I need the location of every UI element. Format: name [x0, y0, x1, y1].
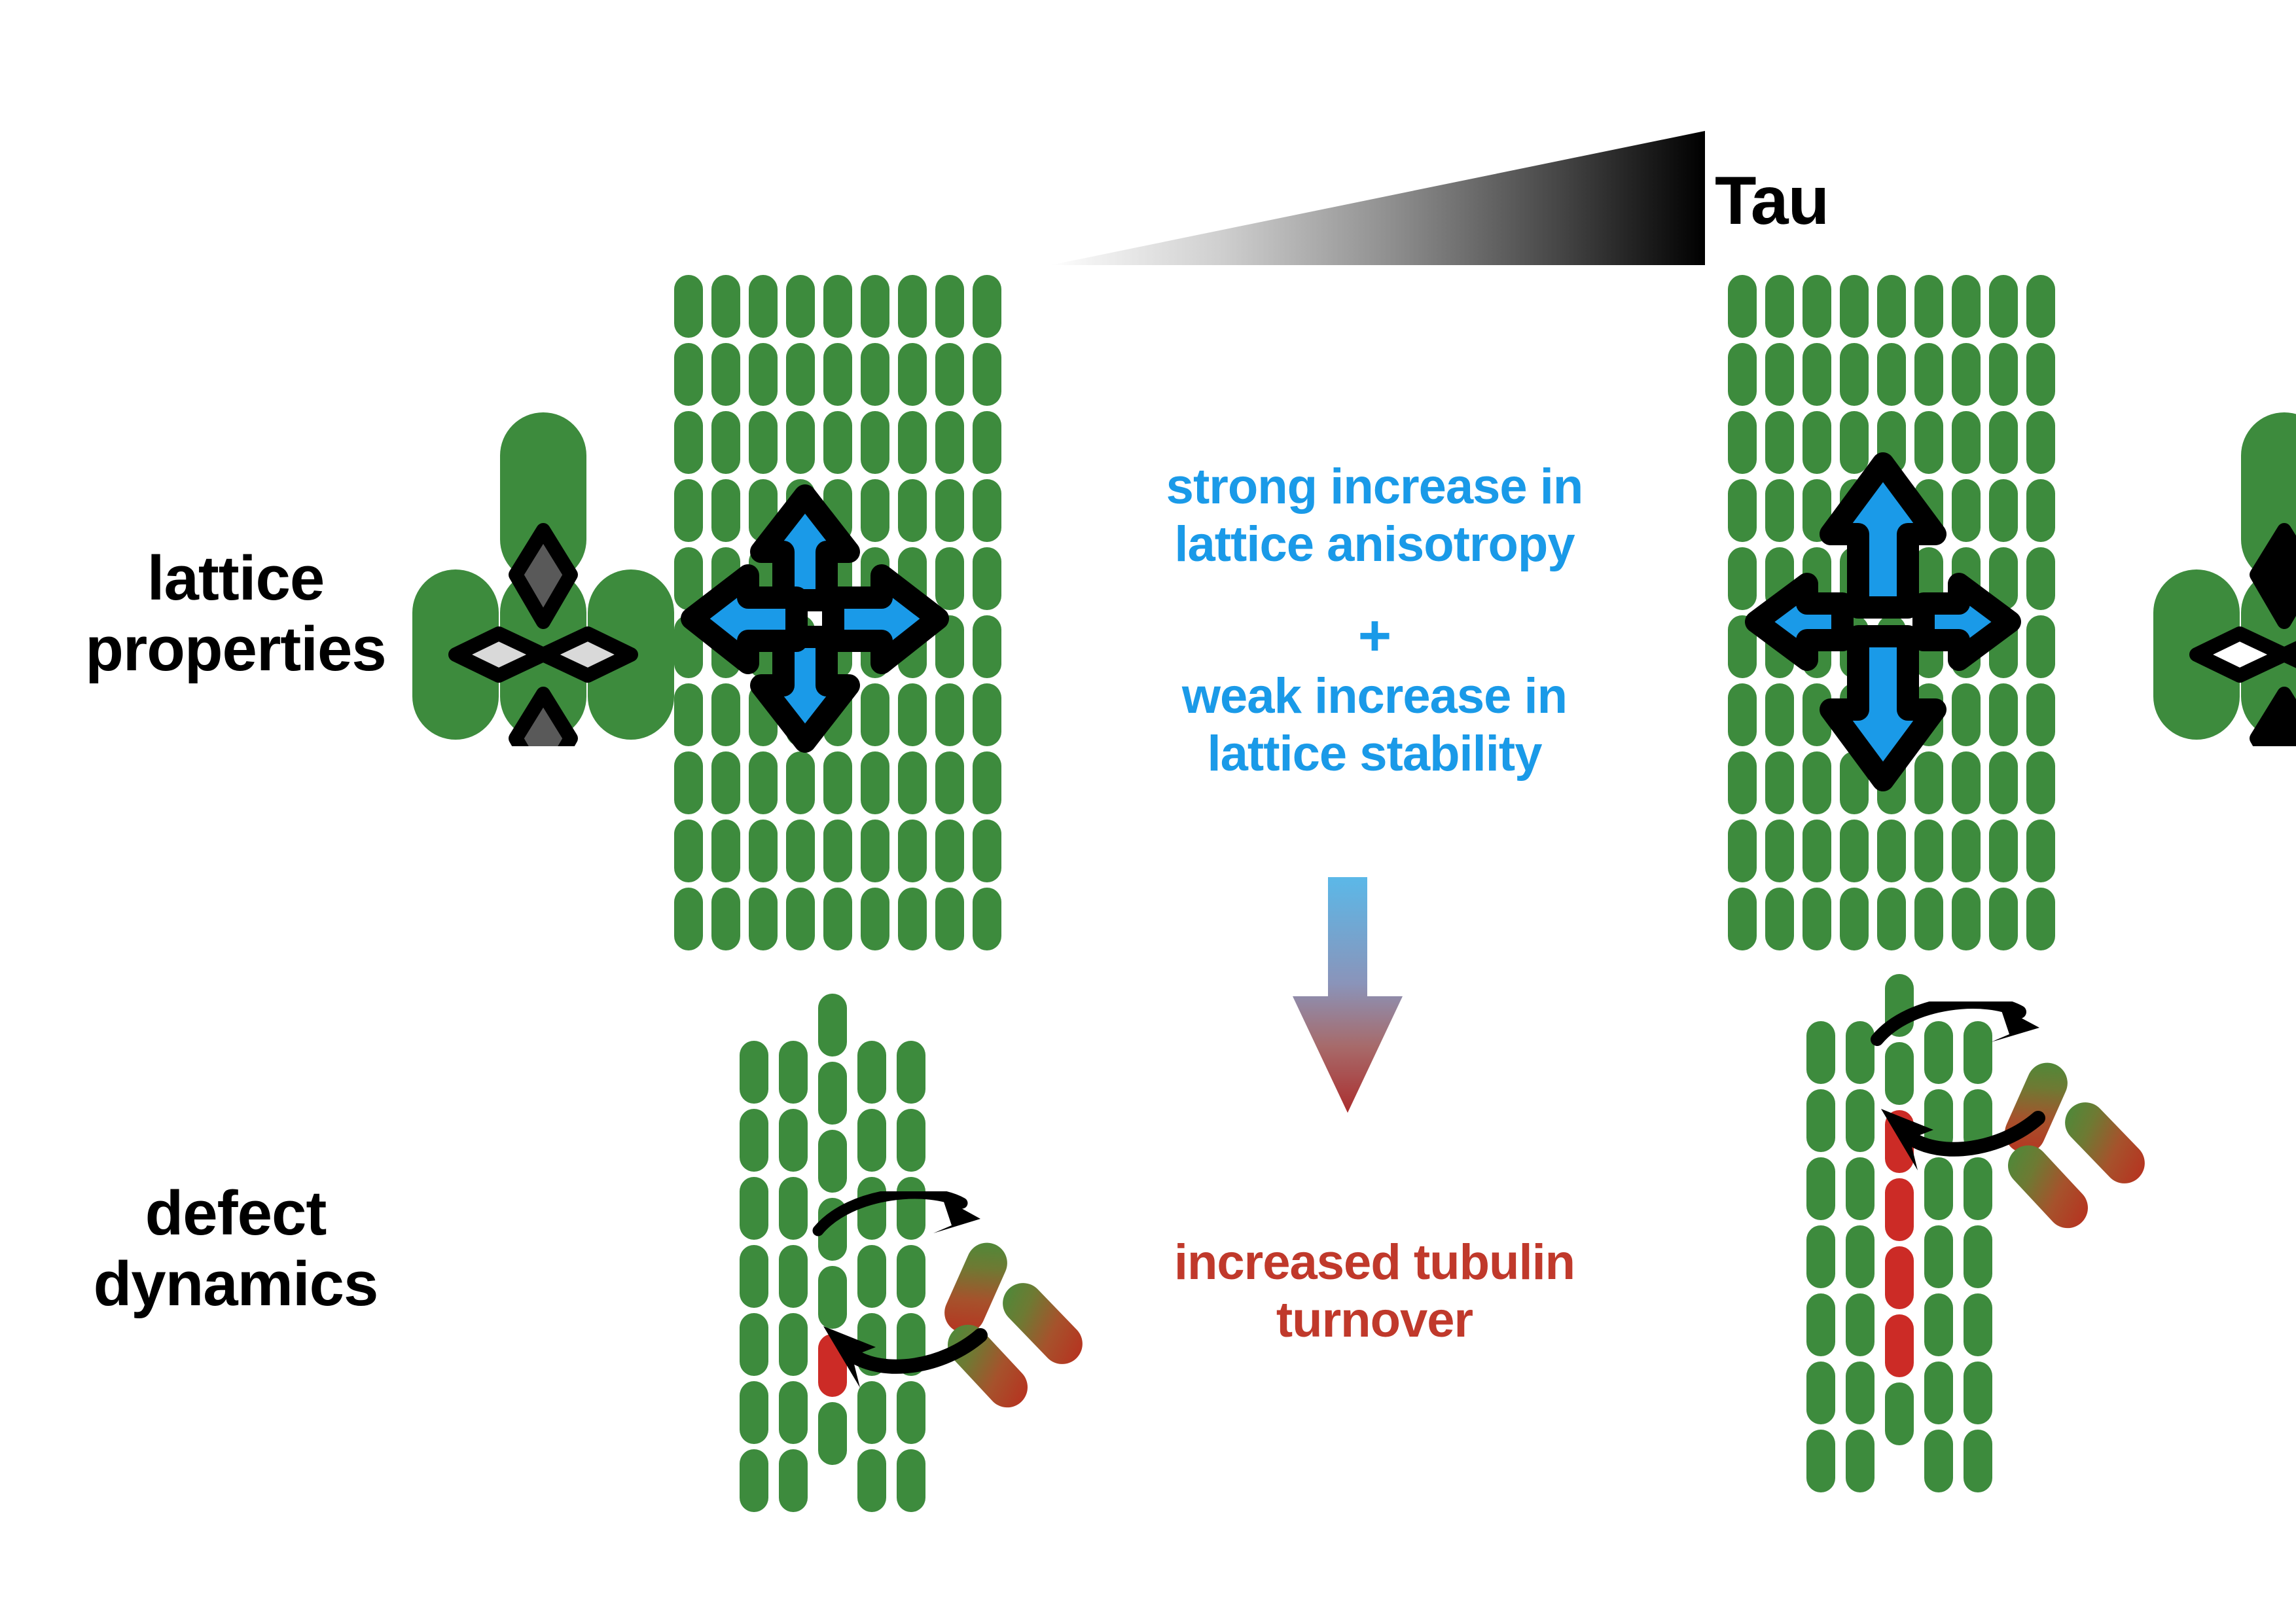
tubulin-subunit [973, 683, 1001, 746]
message-turnover-line2: turnover [1067, 1291, 1682, 1349]
tubulin-subunit [898, 275, 927, 338]
tubulin-subunit [711, 275, 740, 338]
message-anisotropy-line1: strong increase in [1067, 458, 1682, 516]
tubulin-cross-low-tau [406, 406, 681, 746]
tubulin-subunit [861, 751, 889, 814]
tubulin-subunit [1885, 1382, 1914, 1445]
tubulin-subunit [973, 751, 1001, 814]
tubulin-subunit [674, 888, 703, 950]
tubulin-subunit [1877, 820, 1906, 882]
tubulin-subunit [779, 1449, 808, 1512]
tubulin-subunit [1877, 343, 1906, 406]
message-increased-tubulin-turnover: increased tubulin turnover [1067, 1234, 1682, 1349]
tubulin-subunit [1964, 1362, 1992, 1424]
tubulin-subunit [1964, 1293, 1992, 1356]
outcome-down-arrow-icon [1293, 877, 1403, 1113]
tubulin-subunit [898, 751, 927, 814]
tubulin-subunit [1806, 1225, 1835, 1288]
tubulin-subunit [898, 888, 927, 950]
tubulin-subunit [1840, 343, 1869, 406]
tubulin-subunit [711, 411, 740, 474]
tubulin-subunit [1989, 275, 2018, 338]
message-anisotropy-line2: lattice anisotropy [1067, 516, 1682, 573]
tubulin-subunit [1728, 820, 1757, 882]
tubulin-subunit [898, 820, 927, 882]
tubulin-subunit [1914, 820, 1943, 882]
tubulin-subunit [749, 820, 778, 882]
tubulin-subunit [823, 411, 852, 474]
message-plus-sign: + [1067, 602, 1682, 669]
tubulin-subunit [973, 479, 1001, 542]
tubulin-subunit [898, 411, 927, 474]
row-label-defect-line2: dynamics [26, 1249, 445, 1320]
association-arrow-icon [1881, 1109, 2038, 1170]
tau-gradient-wedge [1050, 131, 1705, 265]
tubulin-subunit [861, 275, 889, 338]
tubulin-subunit [1846, 1362, 1874, 1424]
tubulin-subunit [740, 1245, 768, 1308]
tubulin-subunit [1877, 275, 1906, 338]
tubulin-subunit [1765, 275, 1794, 338]
defect-exchange-arrows-low-tau [812, 1191, 1100, 1479]
tubulin-subunit [1806, 1021, 1835, 1084]
tubulin-subunit [2026, 343, 2055, 406]
tubulin-subunit [749, 751, 778, 814]
tubulin-subunit [740, 1313, 768, 1376]
tubulin-subunit [711, 820, 740, 882]
tubulin-subunit [823, 751, 852, 814]
tubulin-subunit [749, 888, 778, 950]
tubulin-subunit [779, 1381, 808, 1444]
tubulin-subunit [1765, 343, 1794, 406]
tubulin-subunit [973, 275, 1001, 338]
tubulin-subunit [1846, 1293, 1874, 1356]
tubulin-subunit [711, 343, 740, 406]
tubulin-subunit [897, 1041, 925, 1104]
row-label-defect-dynamics: defect dynamics [26, 1178, 445, 1319]
message-turnover-line1: increased tubulin [1067, 1234, 1682, 1291]
tubulin-subunit [823, 820, 852, 882]
tubulin-subunit [1765, 888, 1794, 950]
tubulin-subunit [1924, 1293, 1953, 1356]
tubulin-subunit [1803, 888, 1831, 950]
tubulin-subunit [935, 275, 964, 338]
tubulin-subunit [674, 411, 703, 474]
tubulin-subunit [1989, 820, 2018, 882]
tubulin-subunit [711, 888, 740, 950]
tubulin-subunit [897, 1109, 925, 1172]
tubulin-subunit [898, 343, 927, 406]
tubulin-subunit [786, 820, 815, 882]
tubulin-subunit [786, 275, 815, 338]
arrow-down-icon [761, 637, 849, 742]
tubulin-subunit [786, 888, 815, 950]
tubulin-subunit [935, 888, 964, 950]
tubulin-subunit [973, 888, 1001, 950]
tubulin-subunit [861, 888, 889, 950]
tubulin-subunit [1806, 1293, 1835, 1356]
tubulin-subunit [779, 1041, 808, 1104]
tubulin-subunit [935, 820, 964, 882]
tubulin-subunit [740, 1109, 768, 1172]
dissociation-arrow-icon [1877, 1002, 2039, 1042]
tubulin-subunit [2026, 888, 2055, 950]
tubulin-subunit [935, 751, 964, 814]
lattice-arrows-low-tau [677, 481, 952, 756]
tubulin-subunit [779, 1109, 808, 1172]
tubulin-subunit [823, 888, 852, 950]
tubulin-subunit [1952, 343, 1981, 406]
tubulin-subunit [711, 751, 740, 814]
row-label-lattice-line2: properties [26, 614, 445, 685]
tubulin-subunit [2026, 275, 2055, 338]
figure-canvas: lattice properties defect dynamics Tau s… [0, 0, 2296, 1624]
tubulin-subunit [1765, 820, 1794, 882]
row-label-lattice-properties: lattice properties [26, 543, 445, 684]
tubulin-subunit [861, 343, 889, 406]
tubulin-subunit [749, 343, 778, 406]
association-arrow-icon [823, 1326, 980, 1388]
tubulin-subunit [1989, 888, 2018, 950]
tubulin-subunit [1952, 888, 1981, 950]
tubulin-subunit [935, 343, 964, 406]
tubulin-subunit [1728, 275, 1757, 338]
tubulin-subunit [740, 1041, 768, 1104]
tubulin-subunit [1840, 275, 1869, 338]
tubulin-subunit [1806, 1362, 1835, 1424]
tubulin-subunit [1803, 343, 1831, 406]
tubulin-subunit [740, 1177, 768, 1240]
tubulin-subunit [674, 820, 703, 882]
arrow-up-icon [1831, 463, 1935, 607]
tubulin-subunit [1924, 1430, 1953, 1492]
tubulin-subunit [1806, 1157, 1835, 1220]
message-lattice-stability: weak increase in lattice stability [1067, 668, 1682, 783]
tubulin-subunit [1952, 820, 1981, 882]
arrow-left-icon [1756, 584, 1842, 660]
tubulin-subunit [1728, 343, 1757, 406]
tubulin-subunit [674, 343, 703, 406]
tubulin-subunit [786, 343, 815, 406]
tubulin-subunit [749, 275, 778, 338]
tubulin-subunit [818, 1130, 847, 1193]
tubulin-subunit [818, 1062, 847, 1125]
tubulin-subunit [1924, 1362, 1953, 1424]
tubulin-subunit [1728, 888, 1757, 950]
tubulin-subunit [857, 1041, 886, 1104]
tubulin-subunit [1806, 1089, 1835, 1152]
tubulin-subunit [779, 1177, 808, 1240]
tubulin-subunit [1840, 820, 1869, 882]
dissociation-arrow-icon [818, 1193, 980, 1233]
arrow-right-icon [1924, 584, 2010, 660]
tubulin-subunit [1803, 275, 1831, 338]
tubulin-subunit [2026, 820, 2055, 882]
tubulin-subunit [935, 411, 964, 474]
tubulin-subunit [857, 1109, 886, 1172]
tubulin-subunit [823, 343, 852, 406]
tubulin-subunit [786, 751, 815, 814]
tubulin-subunit [740, 1381, 768, 1444]
tubulin-cross-high-tau [2147, 406, 2296, 746]
tubulin-subunit [1914, 888, 1943, 950]
tubulin-subunit [973, 615, 1001, 678]
arrow-left-icon [692, 575, 797, 663]
tubulin-subunit [818, 994, 847, 1056]
tubulin-subunit [1806, 1430, 1835, 1492]
message-lattice-anisotropy: strong increase in lattice anisotropy [1067, 458, 1682, 573]
tubulin-subunit [973, 411, 1001, 474]
arrow-down-icon [1831, 636, 1935, 780]
tubulin-subunit [749, 411, 778, 474]
message-stability-line2: lattice stability [1067, 725, 1682, 783]
tubulin-subunit [1885, 1314, 1914, 1377]
tubulin-subunit [1989, 343, 2018, 406]
tubulin-subunit [973, 820, 1001, 882]
tubulin-subunit [779, 1245, 808, 1308]
tubulin-subunit [674, 275, 703, 338]
lattice-arrows-high-tau [1744, 452, 2032, 792]
arrow-right-icon [833, 575, 938, 663]
defect-exchange-arrows-high-tau [1871, 1001, 2159, 1290]
tubulin-subunit [674, 751, 703, 814]
message-stability-line1: weak increase in [1067, 668, 1682, 725]
tubulin-subunit [779, 1313, 808, 1376]
tubulin-subunit [1803, 820, 1831, 882]
tau-label: Tau [1715, 162, 1829, 240]
tubulin-subunit [1952, 275, 1981, 338]
tubulin-subunit [1877, 888, 1906, 950]
tubulin-subunit [823, 275, 852, 338]
tubulin-subunit [1914, 343, 1943, 406]
tubulin-subunit [973, 547, 1001, 610]
tubulin-subunit [740, 1449, 768, 1512]
tubulin-subunit [861, 411, 889, 474]
row-label-defect-line1: defect [26, 1178, 445, 1249]
tubulin-subunit [973, 343, 1001, 406]
row-label-lattice-line1: lattice [26, 543, 445, 614]
tubulin-subunit [1964, 1430, 1992, 1492]
tubulin-subunit [786, 411, 815, 474]
tubulin-subunit [1840, 888, 1869, 950]
arrow-up-icon [761, 496, 849, 600]
tubulin-subunit [861, 820, 889, 882]
tubulin-subunit [1846, 1430, 1874, 1492]
tubulin-subunit [1914, 275, 1943, 338]
